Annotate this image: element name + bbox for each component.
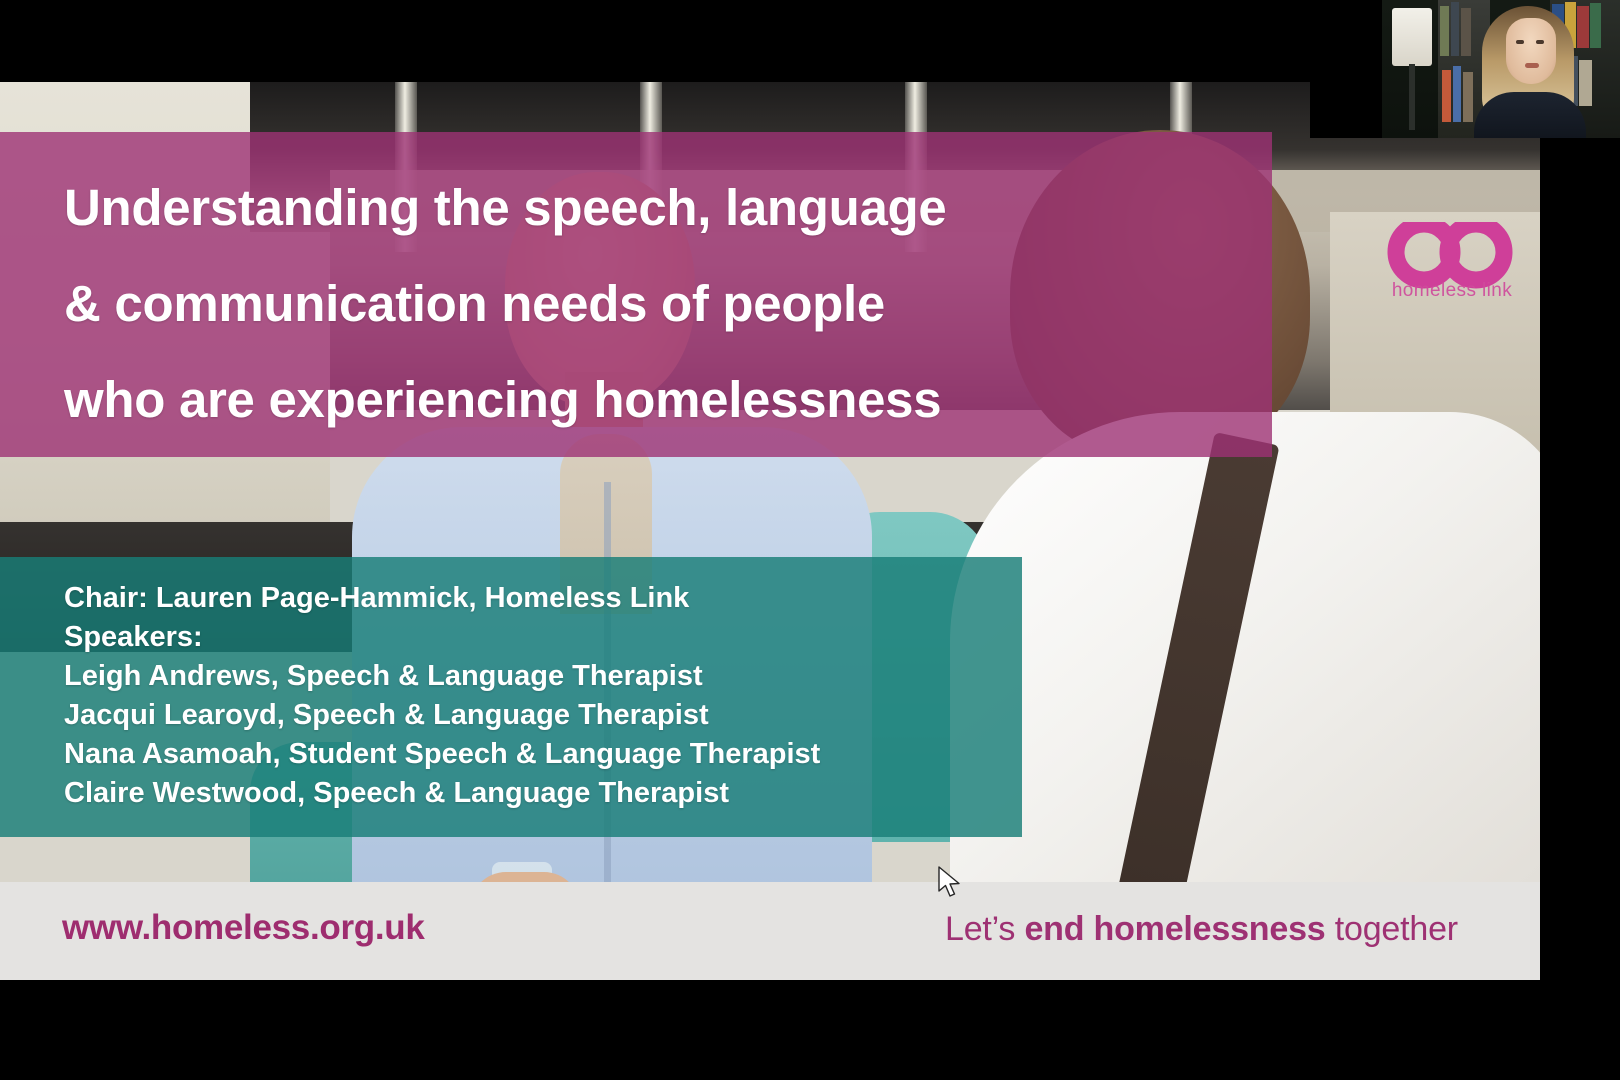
slide-title-block: Understanding the speech, language & com… (0, 132, 1272, 457)
website-url[interactable]: www.homeless.org.uk (62, 908, 425, 948)
slide-title-line-3: who are experiencing homelessness (64, 352, 1208, 448)
logo-wordmark: homeless link (1372, 280, 1532, 302)
participant-video-thumbnail[interactable] (1310, 0, 1620, 138)
tagline-prefix: Let’s (945, 910, 1024, 948)
speakers-label: Speakers: (64, 618, 1022, 657)
slide-title-line-1: Understanding the speech, language (64, 160, 1208, 256)
shared-slide[interactable]: Understanding the speech, language & com… (0, 82, 1540, 980)
chair-line: Chair: Lauren Page-Hammick, Homeless Lin… (64, 579, 1022, 618)
speaker-3: Nana Asamoah, Student Speech & Language … (64, 735, 1022, 774)
tagline-suffix: together (1326, 910, 1458, 948)
infinity-circles-icon (1372, 222, 1532, 318)
screen: Understanding the speech, language & com… (0, 0, 1620, 1080)
tagline-bold: end homelessness (1024, 910, 1325, 948)
slide-speakers-block: Chair: Lauren Page-Hammick, Homeless Lin… (0, 557, 1022, 837)
speaker-1: Leigh Andrews, Speech & Language Therapi… (64, 657, 1022, 696)
speaker-4: Claire Westwood, Speech & Language Thera… (64, 774, 1022, 813)
slide-footer: www.homeless.org.uk Let’s end homelessne… (0, 882, 1540, 980)
mouse-pointer-icon (938, 866, 964, 900)
homeless-link-logo: homeless link (1372, 222, 1532, 318)
slide-title-line-2: & communication needs of people (64, 256, 1208, 352)
tagline: Let’s end homelessness together (945, 910, 1458, 949)
speaker-2: Jacqui Learoyd, Speech & Language Therap… (64, 696, 1022, 735)
webcam-feed (1382, 0, 1620, 138)
